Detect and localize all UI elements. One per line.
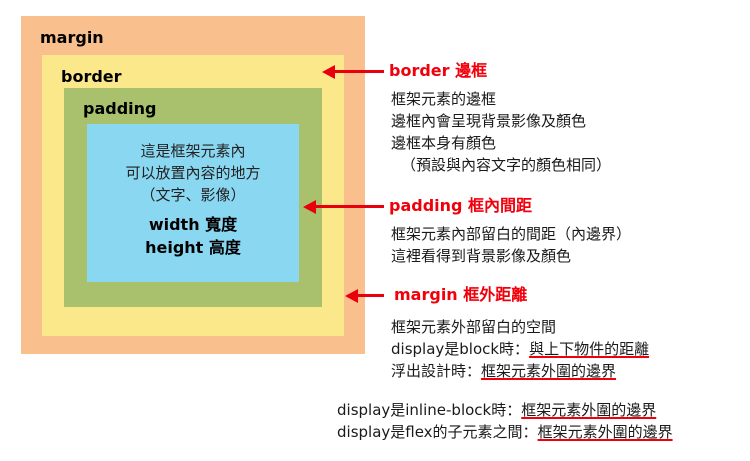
content-text-line: 這是框架元素內 (140, 140, 245, 162)
box-model-diagram: margin border padding 這是框架元素內 可以放置內容的地方 … (21, 16, 365, 354)
footer-line: display是inline-block時：框架元素外圍的邊界 (337, 399, 673, 421)
detail-underlined: 框架元素外圍的邊界 (538, 423, 673, 441)
annotation-line-margin-detail: 浮出設計時：框架元素外圍的邊界 (391, 360, 649, 382)
annotation-line: 這裡看得到背景影像及顏色 (391, 245, 631, 267)
annotation-line: （預設與內容文字的顏色相同） (391, 154, 611, 176)
annotation-body-padding: 框架元素內部留白的間距（內邊界） 這裡看得到背景影像及顏色 (391, 223, 631, 267)
annotation-heading-padding: padding 框內間距 (389, 198, 532, 214)
annotation-line: 框架元素內部留白的間距（內邊界） (391, 223, 631, 245)
content-box: 這是框架元素內 可以放置內容的地方 （文字、影像） width 寬度 heigh… (87, 124, 299, 282)
annotation-line: 框架元素的邊框 (391, 88, 611, 110)
border-box: border padding 這是框架元素內 可以放置內容的地方 （文字、影像）… (42, 55, 344, 336)
annotation-heading-border: border 邊框 (389, 63, 487, 79)
content-text-line: （文字、影像） (140, 184, 245, 206)
detail-underlined: 框架元素外圍的邊界 (521, 401, 656, 419)
annotation-line-indented: （預設與內容文字的顏色相同） (391, 154, 611, 176)
border-pointer-arrow (334, 70, 384, 73)
annotation-line: 框架元素外部留白的空間 (391, 316, 649, 338)
detail-prefix: display是inline-block時： (337, 401, 521, 419)
detail-prefix: 浮出設計時： (391, 362, 481, 380)
annotation-line-margin-detail: display是block時：與上下物件的距離 (391, 338, 649, 360)
content-width-label: width 寬度 (149, 213, 237, 236)
footer-line: display是flex的子元素之間：框架元素外圍的邊界 (337, 421, 673, 443)
detail-prefix: display是block時： (391, 340, 529, 358)
content-text-line: 可以放置內容的地方 (125, 162, 260, 184)
annotation-heading-margin: margin 框外距離 (394, 287, 527, 303)
detail-underlined: 框架元素外圍的邊界 (481, 362, 616, 380)
border-box-label: border (61, 69, 122, 85)
annotation-line: 邊框內會呈現背景影像及顏色 (391, 110, 611, 132)
margin-pointer-arrow (357, 294, 384, 297)
annotation-body-margin: 框架元素外部留白的空間 display是block時：與上下物件的距離 浮出設計… (391, 316, 649, 382)
padding-box-label: padding (83, 101, 156, 117)
detail-underlined: 與上下物件的距離 (529, 340, 649, 358)
annotation-line: 邊框本身有顏色 (391, 132, 611, 154)
footer-details: display是inline-block時：框架元素外圍的邊界 display是… (337, 399, 673, 443)
margin-box-label: margin (40, 30, 104, 46)
padding-box: padding 這是框架元素內 可以放置內容的地方 （文字、影像） width … (64, 88, 322, 307)
annotation-body-border: 框架元素的邊框 邊框內會呈現背景影像及顏色 邊框本身有顏色 （預設與內容文字的顏… (391, 88, 611, 176)
content-height-label: height 高度 (145, 236, 241, 259)
detail-prefix: display是flex的子元素之間： (337, 423, 538, 441)
padding-pointer-arrow (315, 205, 384, 208)
